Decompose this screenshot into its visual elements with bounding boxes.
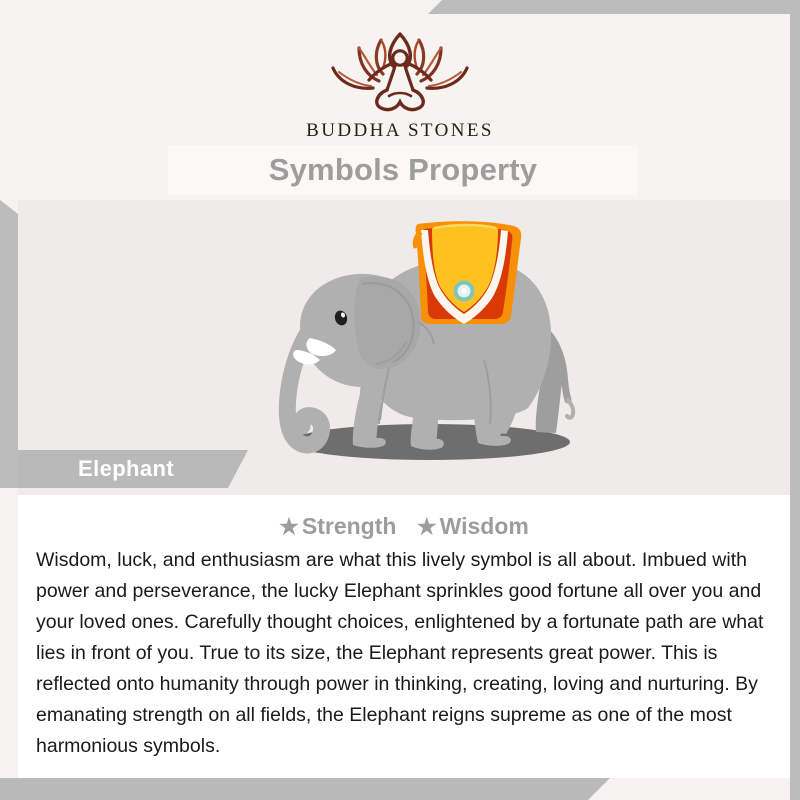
infographic-page: BUDDHA STONES Symbols Property [0,0,800,800]
symbol-description: Wisdom, luck, and enthusiasm are what th… [36,545,776,762]
symbol-name: Elephant [78,456,174,482]
trait-list: ★Strength ★Wisdom [18,513,790,540]
description-panel: ★Strength ★Wisdom Wisdom, luck, and enth… [18,495,790,778]
elephant-illustration [240,214,600,489]
decor-bottom-bar [0,778,610,800]
decor-right-bar-upper [790,0,800,258]
trait-wisdom: ★Wisdom [417,513,529,540]
brand-logo-group: BUDDHA STONES [10,28,790,142]
brand-name: BUDDHA STONES [306,120,494,142]
trait-strength: ★Strength [279,513,396,540]
trait-wisdom-label: Wisdom [440,513,529,539]
symbol-name-banner: Elephant [18,450,248,488]
decor-left-tab [0,200,18,488]
title-band: Symbols Property [168,145,638,195]
page-title: Symbols Property [269,152,538,188]
lotus-meditation-icon [325,28,475,114]
star-icon: ★ [279,514,299,539]
star-icon: ★ [417,514,437,539]
decor-right-bar-lower [790,258,800,800]
trait-strength-label: Strength [302,513,397,539]
